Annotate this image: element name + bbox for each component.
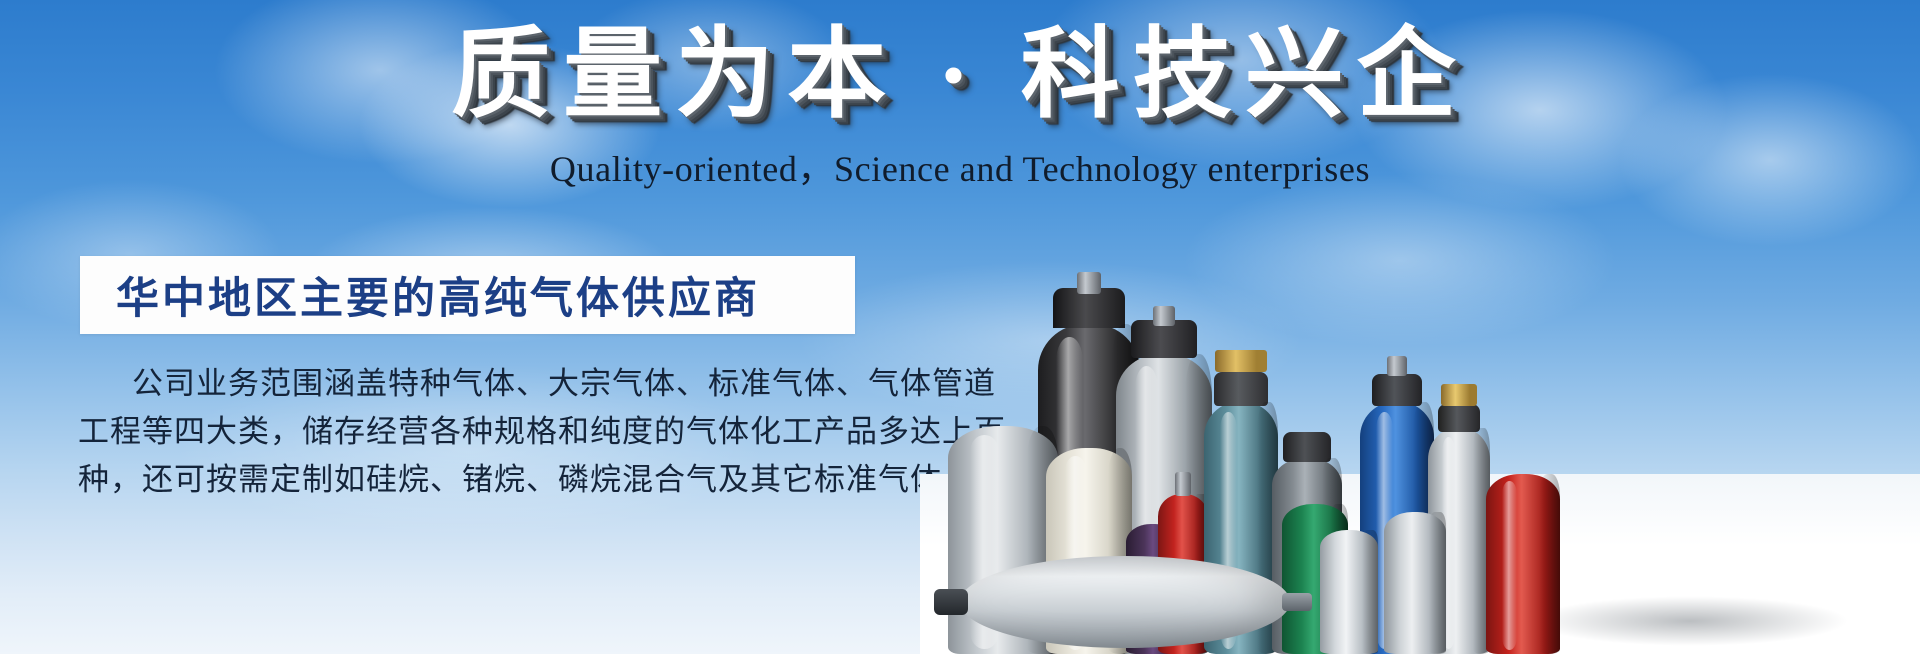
body-paragraph: 公司业务范围涵盖特种气体、大宗气体、标准气体、气体管道 工程等四大类，储存经营各… bbox=[78, 360, 868, 504]
cylinder-valve bbox=[1175, 472, 1191, 496]
red-aluminum-cylinder bbox=[1486, 474, 1560, 654]
cylinder-cap bbox=[1438, 404, 1480, 432]
cylinder-valve bbox=[1441, 384, 1477, 406]
cylinder-valve bbox=[1153, 306, 1175, 326]
tank-nozzle-right bbox=[1282, 593, 1312, 611]
cylinder-valve bbox=[1215, 350, 1267, 372]
body-line-3: 种，还可按需定制如硅烷、锗烷、磷烷混合气及其它标准气体。 bbox=[78, 456, 868, 504]
cylinder-valve bbox=[1077, 272, 1101, 294]
cylinder-cap bbox=[1053, 288, 1125, 328]
cylinder-shade bbox=[1429, 512, 1446, 654]
silver-aluminum-cylinder bbox=[1384, 512, 1446, 654]
body-line-2: 工程等四大类，储存经营各种规格和纯度的气体化工产品多达上百 bbox=[78, 408, 868, 456]
promo-banner: 质量为本 · 科技兴企 Quality-oriented，Science and… bbox=[0, 0, 1920, 654]
highlight-banner-box: 华中地区主要的高纯气体供应商 bbox=[80, 256, 855, 334]
body-line-1: 公司业务范围涵盖特种气体、大宗气体、标准气体、气体管道 bbox=[78, 360, 868, 408]
horizontal-tank bbox=[960, 556, 1290, 648]
cylinder-cap bbox=[1283, 432, 1331, 462]
cylinder-cap bbox=[1372, 374, 1422, 406]
cylinder-shade bbox=[1362, 530, 1378, 654]
cylinder-cap bbox=[1214, 372, 1268, 406]
cylinder-shade bbox=[1539, 474, 1560, 654]
silver-aluminum-cylinder bbox=[1320, 530, 1378, 654]
highlight-tagline: 华中地区主要的高纯气体供应商 bbox=[80, 264, 760, 326]
cylinder-highlight bbox=[1502, 481, 1517, 650]
gas-cylinder-photo bbox=[920, 0, 1920, 654]
cylinder-valve bbox=[1387, 356, 1407, 376]
tank-nozzle-left bbox=[934, 589, 968, 615]
